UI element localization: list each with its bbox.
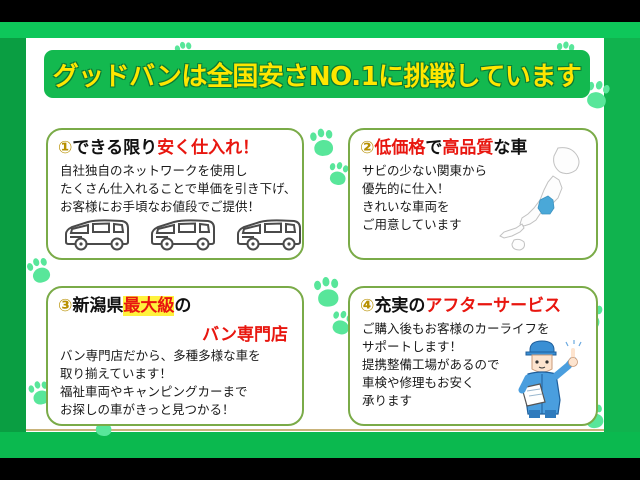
- body-line: バン専門店だから、多種多様な車を: [60, 347, 302, 365]
- feature-box-4-title: ④充実のアフターサービス: [360, 297, 596, 316]
- frame-right-bar: [604, 38, 640, 448]
- feature-box-1-body: 自社独自のネットワークを使用し たくさん仕入れることで単価を引き下げ、 お客様に…: [60, 162, 302, 216]
- title-plain: 新潟県: [72, 296, 123, 316]
- title-tail: の: [174, 296, 191, 316]
- feature-box-1: ①できる限り安く仕入れ！ 自社独自のネットワークを使用し たくさん仕入れることで…: [46, 128, 304, 260]
- title-highlight: 最大級: [123, 296, 174, 316]
- body-line: 取り揃えています！: [60, 365, 302, 383]
- title-plain: できる限り: [72, 138, 157, 158]
- advertisement-banner: グッドバンは全国安さNO.1に挑戦しています ①できる限り安く仕入れ！ 自社独自…: [0, 0, 640, 480]
- feature-box-3-title: ③新潟県最大級の: [58, 297, 302, 316]
- frame-bottom-bar: [0, 432, 640, 458]
- feature-box-3: ③新潟県最大級の バン専門店 バン専門店だから、多種多様な車を 取り揃えています…: [46, 286, 304, 426]
- title-accent-2: 高品質: [442, 138, 493, 158]
- feature-box-2: ②低価格で高品質な車 サビの少ない関東から 優先的に仕入！ きれいな車両を ご用…: [348, 128, 598, 260]
- van-icon: [148, 218, 218, 252]
- mechanic-person-icon: [512, 336, 584, 420]
- body-line: 福祉車両やキャンピングカーまで: [60, 383, 302, 401]
- feature-box-4: ④充実のアフターサービス ご購入後もお客様のカーライフを サポートします！ 提携…: [348, 286, 598, 426]
- van-icon: [234, 218, 304, 252]
- body-line: たくさん仕入れることで単価を引き下げ、: [60, 180, 302, 198]
- body-line: お探しの車がきっと見つかる！: [60, 401, 302, 419]
- feature-number: ④: [360, 296, 374, 316]
- japan-map-icon: [496, 144, 592, 256]
- title-mid: で: [425, 138, 442, 158]
- body-line: 自社独自のネットワークを使用し: [60, 162, 302, 180]
- title-accent: 安く仕入れ！: [157, 138, 259, 158]
- title-plain: 充実の: [374, 296, 425, 316]
- feature-number: ②: [360, 138, 374, 158]
- headline-banner: グッドバンは全国安さNO.1に挑戦しています: [44, 50, 590, 98]
- feature-box-3-body: バン専門店だから、多種多様な車を 取り揃えています！ 福祉車両やキャンピングカー…: [60, 347, 302, 420]
- frame-left-bar: [0, 38, 26, 448]
- feature-number: ③: [58, 296, 72, 316]
- headline-text: グッドバンは全国安さNO.1に挑戦しています: [53, 56, 582, 93]
- van-icon: [62, 218, 132, 252]
- title-accent: アフターサービス: [425, 296, 561, 316]
- feature-box-1-title: ①できる限り安く仕入れ！: [58, 139, 302, 158]
- van-icon-group: [62, 218, 304, 252]
- divider-line: [26, 429, 604, 431]
- feature-number: ①: [58, 138, 72, 158]
- feature-box-3-subtitle: バン専門店: [48, 320, 288, 345]
- body-line: お客様にお手頃なお値段でご提供！: [60, 198, 302, 216]
- title-accent-1: 低価格: [374, 138, 425, 158]
- frame-top-bar: [0, 22, 640, 38]
